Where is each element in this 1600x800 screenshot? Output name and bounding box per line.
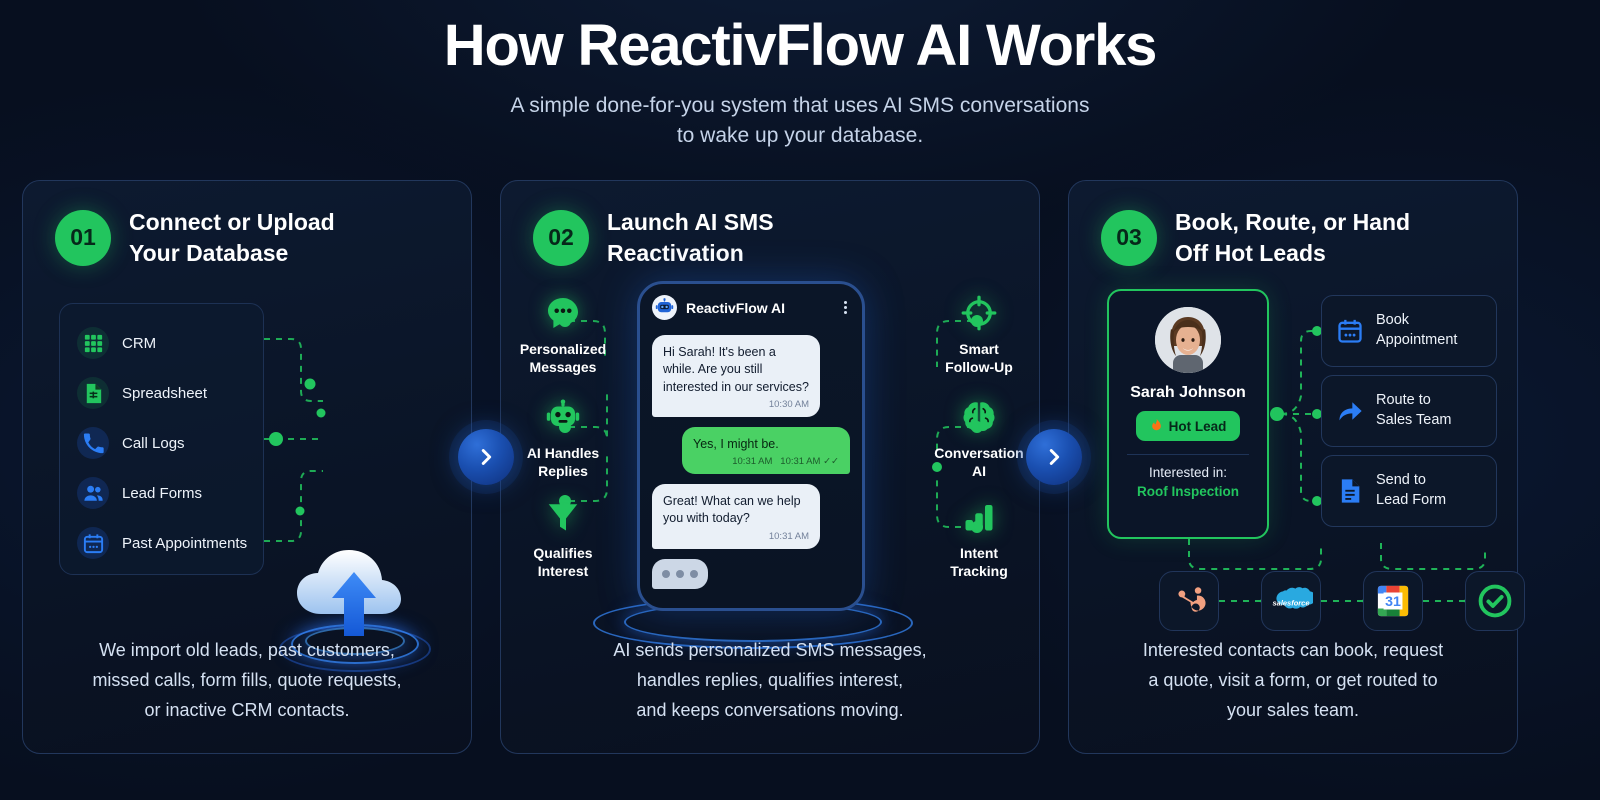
check-circle-icon — [1477, 583, 1513, 619]
divider — [1127, 454, 1249, 455]
svg-text:31: 31 — [1385, 594, 1401, 610]
source-item-spreadsheet[interactable]: Spreadsheet — [60, 368, 263, 418]
message-text: Great! What can we help you with today? — [663, 493, 809, 528]
step-card-2: 02 Launch AI SMS Reactivation — [500, 180, 1040, 754]
arrow-step2-to-step3[interactable] — [1026, 429, 1082, 485]
share-arrow-icon — [1336, 397, 1364, 425]
step-3-caption: Interested contacts can book, request a … — [1069, 635, 1517, 725]
message-time: 10:31 AM 10:31 AM ✓✓ — [693, 456, 839, 467]
feature-personalized-messages: Personalized Messages — [505, 293, 621, 377]
calendar-icon — [77, 527, 109, 559]
caption-line-1: Interested contacts can book, request — [1095, 635, 1491, 665]
step-card-1: 01 Connect or Upload Your Database — [22, 180, 472, 754]
chat-bubble-icon — [505, 293, 621, 333]
chat-message-ai-2: Great! What can we help you with today? … — [652, 484, 820, 549]
feature-label: Qualifies Interest — [505, 544, 621, 581]
connector-node — [317, 409, 326, 418]
step-card-3: 03 Book, Route, or Hand Off Hot Leads — [1068, 180, 1518, 754]
source-label: Call Logs — [122, 435, 185, 452]
source-label: Spreadsheet — [122, 385, 207, 402]
integration-hubspot[interactable] — [1159, 571, 1219, 631]
step-3-title-line-2: Off Hot Leads — [1175, 238, 1410, 269]
action-book-appointment[interactable]: Book Appointment — [1321, 295, 1497, 367]
step-1-title-line-2: Your Database — [129, 238, 335, 269]
fire-icon — [1150, 417, 1163, 435]
spreadsheet-icon — [77, 377, 109, 409]
status-badge-label: Hot Lead — [1169, 419, 1227, 434]
page-subtitle: A simple done-for-you system that uses A… — [0, 91, 1600, 152]
lead-name: Sarah Johnson — [1109, 384, 1267, 402]
status-badge: Hot Lead — [1136, 411, 1241, 441]
step-2-title-line-2: Reactivation — [607, 238, 774, 269]
subtitle-line-2: to wake up your database. — [0, 121, 1600, 151]
phone-icon — [77, 427, 109, 459]
phone-mockup: ReactivFlow AI Hi Sarah! It's been a whi… — [637, 281, 865, 611]
step-2-number-badge: 02 — [533, 210, 589, 266]
google-calendar-icon: 31 — [1376, 584, 1410, 618]
source-label: CRM — [122, 335, 156, 352]
caption-line-2: a quote, visit a form, or get routed to — [1095, 665, 1491, 695]
step-1-title: Connect or Upload Your Database — [129, 207, 335, 268]
salesforce-icon: salesforce — [1269, 586, 1313, 616]
hubspot-icon — [1172, 584, 1206, 618]
feature-qualifies-interest: Qualifies Interest — [505, 497, 621, 581]
chat-messages: Hi Sarah! It's been a while. Are you sti… — [640, 329, 862, 589]
brain-icon — [921, 397, 1037, 437]
calendar-icon — [1336, 317, 1364, 345]
caption-line-3: your sales team. — [1095, 695, 1491, 725]
source-label: Lead Forms — [122, 485, 202, 502]
action-label: Send to Lead Form — [1376, 471, 1446, 510]
step-3-header: 03 Book, Route, or Hand Off Hot Leads — [1069, 181, 1517, 268]
interest-value: Roof Inspection — [1109, 484, 1267, 499]
arrow-step1-to-step2[interactable] — [458, 429, 514, 485]
typing-dots-icon — [652, 559, 708, 589]
feature-label: Intent Tracking — [921, 544, 1037, 581]
gap-1-2 — [472, 180, 500, 754]
feature-intent-tracking: Intent Tracking — [921, 497, 1037, 581]
action-send-to-lead-form[interactable]: Send to Lead Form — [1321, 455, 1497, 527]
step-3-number-badge: 03 — [1101, 210, 1157, 266]
phone-contact-name: ReactivFlow AI — [686, 300, 835, 316]
integration-salesforce[interactable]: salesforce — [1261, 571, 1321, 631]
integration-google-calendar[interactable]: 31 — [1363, 571, 1423, 631]
read-receipt-icon: ✓✓ — [823, 456, 839, 467]
user-photo-avatar — [1155, 307, 1221, 373]
cloud-upload-icon — [279, 536, 429, 648]
feature-label: AI Handles Replies — [505, 444, 621, 481]
caption-line-3: and keeps conversations moving. — [527, 695, 1013, 725]
source-label: Past Appointments — [122, 535, 247, 552]
message-text: Yes, I might be. — [693, 436, 839, 453]
feature-label: Smart Follow-Up — [921, 340, 1037, 377]
caption-line-2: handles replies, qualifies interest, — [527, 665, 1013, 695]
users-icon — [77, 477, 109, 509]
document-icon — [1336, 477, 1364, 505]
chat-message-user-1: Yes, I might be. 10:31 AM 10:31 AM ✓✓ — [682, 427, 850, 474]
source-item-call-logs[interactable]: Call Logs — [60, 418, 263, 468]
data-sources-panel: CRM Spreadsheet Call Logs — [59, 303, 264, 575]
step-1-number-badge: 01 — [55, 210, 111, 266]
integration-check[interactable] — [1465, 571, 1525, 631]
step-3-title-line-1: Book, Route, or Hand — [1175, 207, 1410, 238]
step-3-title: Book, Route, or Hand Off Hot Leads — [1175, 207, 1410, 268]
caption-line-1: We import old leads, past customers, — [49, 635, 445, 665]
message-text: Hi Sarah! It's been a while. Are you sti… — [663, 344, 809, 396]
connector-node — [296, 507, 305, 516]
caption-line-2: missed calls, form fills, quote requests… — [49, 665, 445, 695]
feature-conversation-ai: Conversation AI — [921, 397, 1037, 481]
chevron-right-icon — [475, 446, 497, 468]
caption-line-1: AI sends personalized SMS messages, — [527, 635, 1013, 665]
feature-label: Personalized Messages — [505, 340, 621, 377]
page-title: How ReactivFlow AI Works — [0, 16, 1600, 77]
target-icon — [921, 293, 1037, 333]
source-item-lead-forms[interactable]: Lead Forms — [60, 468, 263, 518]
svg-text:salesforce: salesforce — [1273, 598, 1310, 607]
phone-chat-header: ReactivFlow AI — [640, 284, 862, 329]
chat-message-ai-1: Hi Sarah! It's been a while. Are you sti… — [652, 335, 820, 417]
funnel-icon — [505, 497, 621, 537]
source-item-past-appointments[interactable]: Past Appointments — [60, 518, 263, 568]
feature-ai-handles-replies: AI Handles Replies — [505, 397, 621, 481]
kebab-menu-icon[interactable] — [844, 301, 850, 314]
bar-chart-icon — [921, 497, 1037, 537]
action-label: Book Appointment — [1376, 311, 1457, 350]
connector-node — [305, 379, 316, 390]
robot-icon — [505, 397, 621, 437]
connector-node — [269, 432, 283, 446]
feature-label: Conversation AI — [921, 444, 1037, 481]
step-1-header: 01 Connect or Upload Your Database — [23, 181, 471, 268]
action-route-to-sales-team[interactable]: Route to Sales Team — [1321, 375, 1497, 447]
action-label: Route to Sales Team — [1376, 391, 1452, 430]
message-time: 10:31 AM — [663, 531, 809, 542]
step-2-title: Launch AI SMS Reactivation — [607, 207, 774, 268]
hot-lead-card[interactable]: Sarah Johnson Hot Lead Interested in: Ro… — [1107, 289, 1269, 539]
infographic-root: How ReactivFlow AI Works A simple done-f… — [0, 0, 1600, 800]
robot-avatar-icon — [652, 295, 677, 320]
step-2-title-line-1: Launch AI SMS — [607, 207, 774, 238]
interest-label: Interested in: — [1109, 465, 1267, 480]
step-1-title-line-1: Connect or Upload — [129, 207, 335, 238]
step-1-caption: We import old leads, past customers, mis… — [23, 635, 471, 725]
grid-icon — [77, 327, 109, 359]
message-time: 10:30 AM — [663, 399, 809, 410]
source-item-crm[interactable]: CRM — [60, 318, 263, 368]
steps-row: 01 Connect or Upload Your Database — [22, 180, 1578, 754]
subtitle-line-1: A simple done-for-you system that uses A… — [0, 91, 1600, 121]
gap-2-3 — [1040, 180, 1068, 754]
chevron-right-icon — [1043, 446, 1065, 468]
feature-smart-follow-up: Smart Follow-Up — [921, 293, 1037, 377]
step-2-caption: AI sends personalized SMS messages, hand… — [501, 635, 1039, 725]
caption-line-3: or inactive CRM contacts. — [49, 695, 445, 725]
step-2-header: 02 Launch AI SMS Reactivation — [501, 181, 1039, 268]
page-header: How ReactivFlow AI Works A simple done-f… — [0, 0, 1600, 152]
